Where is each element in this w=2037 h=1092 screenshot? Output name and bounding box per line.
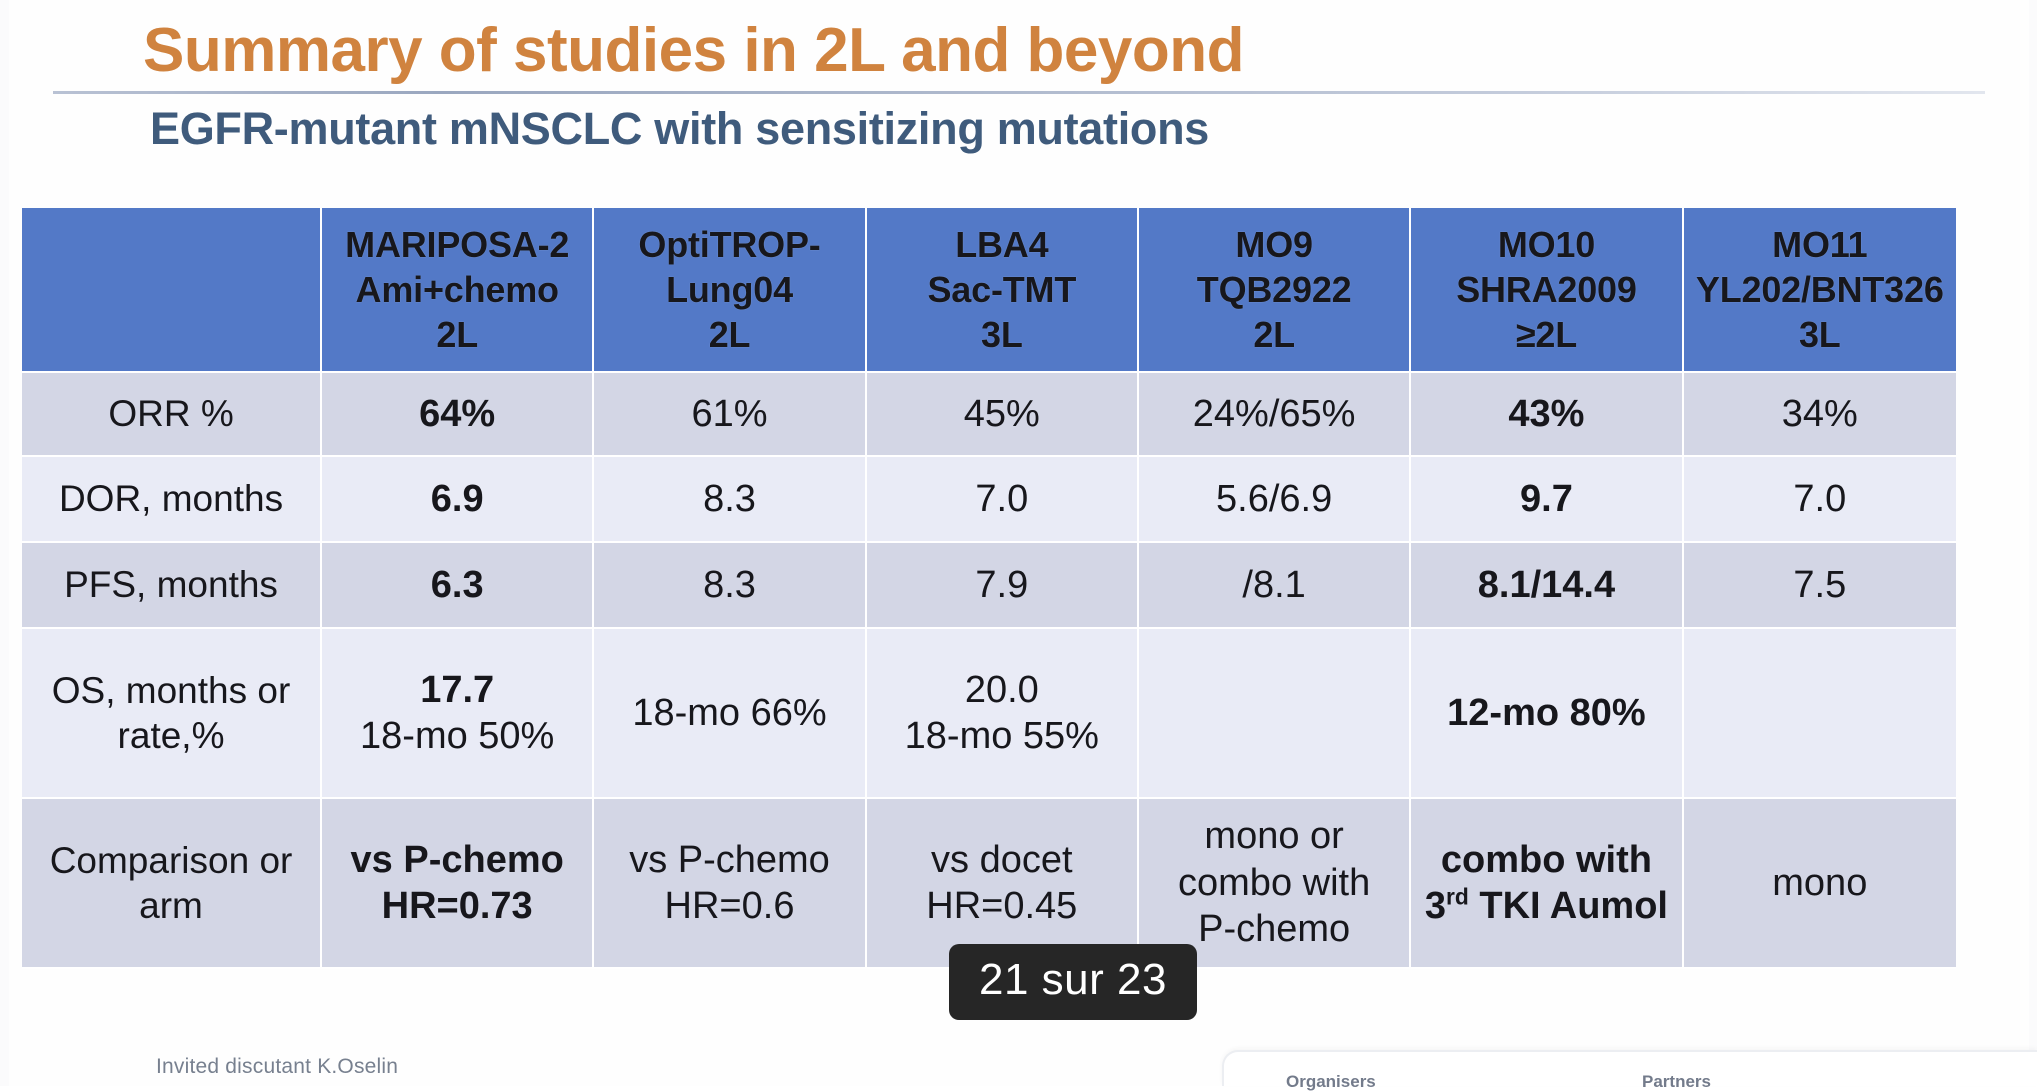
row-label-os: OS, months or rate,%	[22, 629, 322, 799]
cell-dor-mo10: 9.7	[1411, 457, 1683, 543]
cell-orr-optitrop: 61%	[594, 373, 866, 457]
cell-pfs-mo9: /8.1	[1139, 543, 1411, 629]
column-line-of-therapy: 2L	[436, 314, 478, 355]
column-header-mo11: MO11 YL202/BNT326 3L	[1684, 208, 1956, 373]
cell-pfs-mo10: 8.1/14.4	[1411, 543, 1683, 629]
cell-value-primary: vs P-chemo	[629, 839, 830, 881]
row-label-dor: DOR, months	[22, 457, 322, 543]
cell-dor-optitrop: 8.3	[594, 457, 866, 543]
cell-value-secondary: combo with	[1143, 860, 1405, 906]
table-corner-cell	[22, 208, 322, 373]
column-drug-name: SHRA2009	[1456, 269, 1637, 310]
column-header-mo10: MO10 SHRA2009 ≥2L	[1411, 208, 1683, 373]
left-gutter	[0, 0, 9, 1086]
cell-orr-mariposa2: 64%	[322, 373, 594, 457]
column-line-of-therapy: 3L	[1799, 314, 1841, 355]
row-label-line2: arm	[26, 883, 316, 928]
cell-value-primary: 17.7	[420, 669, 494, 711]
cell-value-secondary: 12-mo 80%	[1415, 690, 1677, 736]
column-line-of-therapy: 2L	[709, 314, 751, 355]
column-drug-name: Lung04	[666, 269, 793, 310]
column-study-name: MO9	[1235, 224, 1312, 265]
row-label-orr: ORR %	[22, 373, 322, 457]
cell-pfs-mariposa2: 6.3	[322, 543, 594, 629]
cell-value-primary: vs docet	[931, 839, 1073, 881]
cell-os-lba4: 20.0 18-mo 55%	[867, 629, 1139, 799]
column-header-lba4: LBA4 Sac-TMT 3L	[867, 208, 1139, 373]
title-divider	[53, 91, 1985, 94]
cell-dor-mariposa2: 6.9	[322, 457, 594, 543]
cell-dor-mo9: 5.6/6.9	[1139, 457, 1411, 543]
title-block: Summary of studies in 2L and beyond EGFR…	[0, 18, 2037, 155]
cell-orr-mo9: 24%/65%	[1139, 373, 1411, 457]
cell-comparison-mo11: mono	[1684, 799, 1956, 969]
row-label-line2: rate,%	[26, 713, 316, 758]
column-study-name: MO11	[1772, 224, 1867, 265]
cell-value-primary: combo with	[1441, 839, 1652, 881]
cell-comparison-mo10: combo with 3rd TKI Aumol	[1411, 799, 1683, 969]
cell-value-secondary: 18-mo 50%	[326, 713, 588, 759]
cell-value-secondary: 3rd TKI Aumol	[1415, 883, 1677, 929]
page-subtitle: EGFR-mutant mNSCLC with sensitizing muta…	[0, 103, 2037, 155]
column-drug-name: Sac-TMT	[928, 269, 1077, 310]
cell-os-mo11	[1684, 629, 1956, 799]
page-title: Summary of studies in 2L and beyond	[0, 18, 2037, 85]
column-header-optitrop-lung04: OptiTROP- Lung04 2L	[594, 208, 866, 373]
cell-comparison-optitrop: vs P-chemo HR=0.6	[594, 799, 866, 969]
cell-os-mo9	[1139, 629, 1411, 799]
cell-comparison-mariposa2: vs P-chemo HR=0.73	[322, 799, 594, 969]
table-row: OS, months or rate,% 17.7 18-mo 50% 18-m…	[22, 629, 1956, 799]
cell-value-secondary: HR=0.73	[326, 883, 588, 929]
organisers-label: Organisers	[1286, 1072, 1376, 1092]
footer-discussant-note: Invited discutant K.Oselin	[156, 1055, 398, 1079]
cell-value-secondary: HR=0.6	[598, 883, 860, 929]
cell-value-secondary: 18-mo 66%	[598, 690, 860, 736]
column-line-of-therapy: 2L	[1253, 314, 1295, 355]
cell-dor-lba4: 7.0	[867, 457, 1139, 543]
column-drug-name: YL202/BNT326	[1696, 269, 1944, 310]
right-gutter	[2029, 0, 2037, 1086]
column-study-name: MO10	[1498, 224, 1595, 265]
cell-os-optitrop: 18-mo 66%	[594, 629, 866, 799]
column-header-mo9: MO9 TQB2922 2L	[1139, 208, 1411, 373]
cell-orr-lba4: 45%	[867, 373, 1139, 457]
column-study-name: LBA4	[955, 224, 1048, 265]
cell-os-mo10: 12-mo 80%	[1411, 629, 1683, 799]
column-study-name: MARIPOSA-2	[345, 224, 569, 265]
cell-pfs-lba4: 7.9	[867, 543, 1139, 629]
column-line-of-therapy: 3L	[981, 314, 1023, 355]
cell-value-primary: 20.0	[965, 669, 1039, 711]
column-header-mariposa2: MARIPOSA-2 Ami+chemo 2L	[322, 208, 594, 373]
table-row: ORR % 64% 61% 45% 24%/65% 43% 34%	[22, 373, 1956, 457]
cell-value-primary: mono or	[1204, 815, 1343, 857]
table-row: PFS, months 6.3 8.3 7.9 /8.1 8.1/14.4 7.…	[22, 543, 1956, 629]
footer-sponsor-panel: Organisers Partners	[1222, 1050, 2037, 1086]
cell-orr-mo11: 34%	[1684, 373, 1956, 457]
column-drug-name: Ami+chemo	[356, 269, 559, 310]
cell-orr-mo10: 43%	[1411, 373, 1683, 457]
column-study-name: OptiTROP-	[638, 224, 820, 265]
cell-value-primary: vs P-chemo	[351, 839, 564, 881]
table-row: DOR, months 6.9 8.3 7.0 5.6/6.9 9.7 7.0	[22, 457, 1956, 543]
cell-os-mariposa2: 17.7 18-mo 50%	[322, 629, 594, 799]
row-label-pfs: PFS, months	[22, 543, 322, 629]
cell-value-secondary: 18-mo 55%	[871, 713, 1133, 759]
page-indicator: 21 sur 23	[949, 944, 1197, 1020]
row-label-comparison: Comparison or arm	[22, 799, 322, 969]
cell-value-secondary: HR=0.45	[871, 883, 1133, 929]
row-label-line1: OS, months or	[52, 670, 291, 711]
cell-pfs-mo11: 7.5	[1684, 543, 1956, 629]
table-header: MARIPOSA-2 Ami+chemo 2L OptiTROP- Lung04…	[22, 208, 1956, 373]
slide-canvas: Summary of studies in 2L and beyond EGFR…	[0, 0, 2037, 1086]
table-header-row: MARIPOSA-2 Ami+chemo 2L OptiTROP- Lung04…	[22, 208, 1956, 373]
column-line-of-therapy: ≥2L	[1516, 314, 1577, 355]
partners-label: Partners	[1642, 1072, 1711, 1092]
cell-dor-mo11: 7.0	[1684, 457, 1956, 543]
studies-summary-table: MARIPOSA-2 Ami+chemo 2L OptiTROP- Lung04…	[22, 208, 1956, 969]
table-body: ORR % 64% 61% 45% 24%/65% 43% 34% DOR, m…	[22, 373, 1956, 969]
cell-pfs-optitrop: 8.3	[594, 543, 866, 629]
row-label-line1: Comparison or	[50, 840, 293, 881]
column-drug-name: TQB2922	[1197, 269, 1352, 310]
